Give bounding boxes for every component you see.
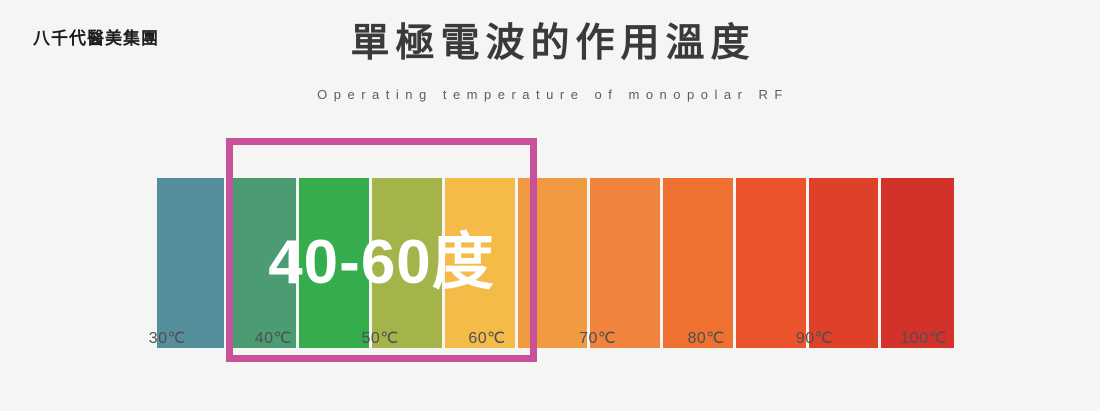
tick-label-70c: 70℃ [579, 328, 616, 348]
scale-segment-8 [663, 178, 736, 348]
page-title: 單極電波的作用溫度 [0, 20, 1100, 69]
tick-label-60c: 60℃ [468, 328, 505, 348]
scale-segment-9 [736, 178, 809, 348]
tick-label-50c: 50℃ [362, 328, 399, 348]
tick-label-30c: 30℃ [149, 328, 186, 348]
tick-label-100c: 100℃ [900, 328, 947, 348]
scale-segment-7 [590, 178, 663, 348]
header: 單極電波的作用溫度 Operating temperature of monop… [0, 20, 1100, 102]
scale-segment-11 [881, 178, 954, 348]
scale-segment-10 [809, 178, 882, 348]
tick-label-40c: 40℃ [255, 328, 292, 348]
scale-segment-1 [157, 178, 227, 348]
tick-label-90c: 90℃ [796, 328, 833, 348]
tick-label-80c: 80℃ [687, 328, 724, 348]
highlight-range-caption: 40-60度 [226, 232, 537, 294]
page-subtitle: Operating temperature of monopolar RF [0, 87, 1100, 102]
